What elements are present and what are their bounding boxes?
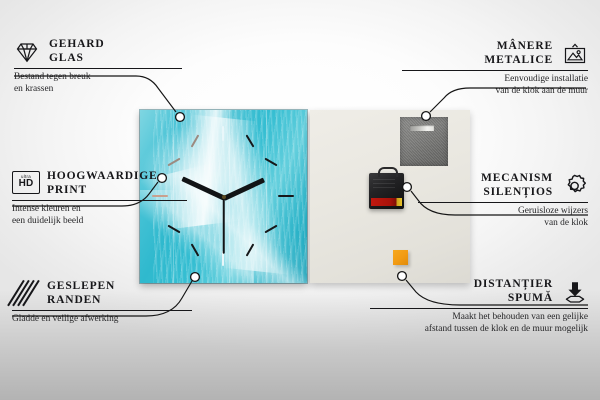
feature-description: Eenvoudige installatie van de klok aan d… (402, 74, 588, 97)
gear-icon (562, 173, 588, 199)
feature-mecanism-silentios: MECANISM SILENȚIOS Geruisloze wijzers va… (418, 172, 588, 229)
feature-rule (14, 68, 182, 69)
feature-title: GESLEPEN RANDEN (47, 280, 115, 307)
connector-dot-mecanism-silentios (403, 183, 412, 192)
feature-description: Maakt het behouden van een gelijke afsta… (370, 312, 588, 335)
feature-header: MECANISM SILENȚIOS (418, 172, 588, 199)
diamond-icon (14, 39, 40, 65)
feature-rule (12, 310, 192, 311)
feature-header: DISTANȚIER SPUMĂ (370, 278, 588, 305)
feature-header: GEHARD GLAS (14, 38, 182, 65)
feature-geslepen-randen: GESLEPEN RANDEN Gladde en veilige afwerk… (12, 280, 192, 326)
feature-rule (418, 202, 588, 203)
ultra-hd-big-label: HD (19, 179, 34, 189)
feature-distantier-spuma: DISTANȚIER SPUMĂ Maakt het behouden van … (370, 278, 588, 335)
connector-dot-manere-metalice (422, 112, 431, 121)
feature-rule (12, 200, 187, 201)
feature-description: Gladde en veilige afwerking (12, 314, 192, 326)
feature-description: Intense kleuren en een duidelijk beeld (12, 204, 187, 227)
feature-title: GEHARD GLAS (49, 38, 105, 65)
feature-title: MÂNERE METALICE (484, 40, 553, 67)
feature-title: MECANISM SILENȚIOS (481, 172, 553, 199)
feature-title: HOOGWAARDIGE PRINT (47, 170, 158, 197)
feature-hoogwaardige-print: ultra HD HOOGWAARDIGE PRINT Intense kleu… (12, 170, 187, 227)
feature-description: Geruisloze wijzers van de klok (418, 206, 588, 229)
ultra-hd-icon: ultra HD (12, 171, 38, 197)
feature-manere-metalice: MÂNERE METALICE Eenvoudige installatie v… (402, 40, 588, 97)
feature-rule (370, 308, 588, 309)
feature-rule (402, 70, 588, 71)
spacer-down-arrow-icon (562, 279, 588, 305)
feature-gehard-glas: GEHARD GLAS Bestand tegen breuk en krass… (14, 38, 182, 95)
infographic-canvas: GEHARD GLAS Bestand tegen breuk en krass… (0, 0, 600, 400)
feature-header: MÂNERE METALICE (402, 40, 588, 67)
feature-header: ultra HD HOOGWAARDIGE PRINT (12, 170, 187, 197)
feature-description: Bestand tegen breuk en krassen (14, 72, 182, 95)
bevelled-edges-icon (12, 281, 38, 307)
connector-dot-gehard-glas (176, 113, 185, 122)
picture-hanger-icon (562, 41, 588, 67)
feature-header: GESLEPEN RANDEN (12, 280, 192, 307)
feature-title: DISTANȚIER SPUMĂ (474, 278, 553, 305)
